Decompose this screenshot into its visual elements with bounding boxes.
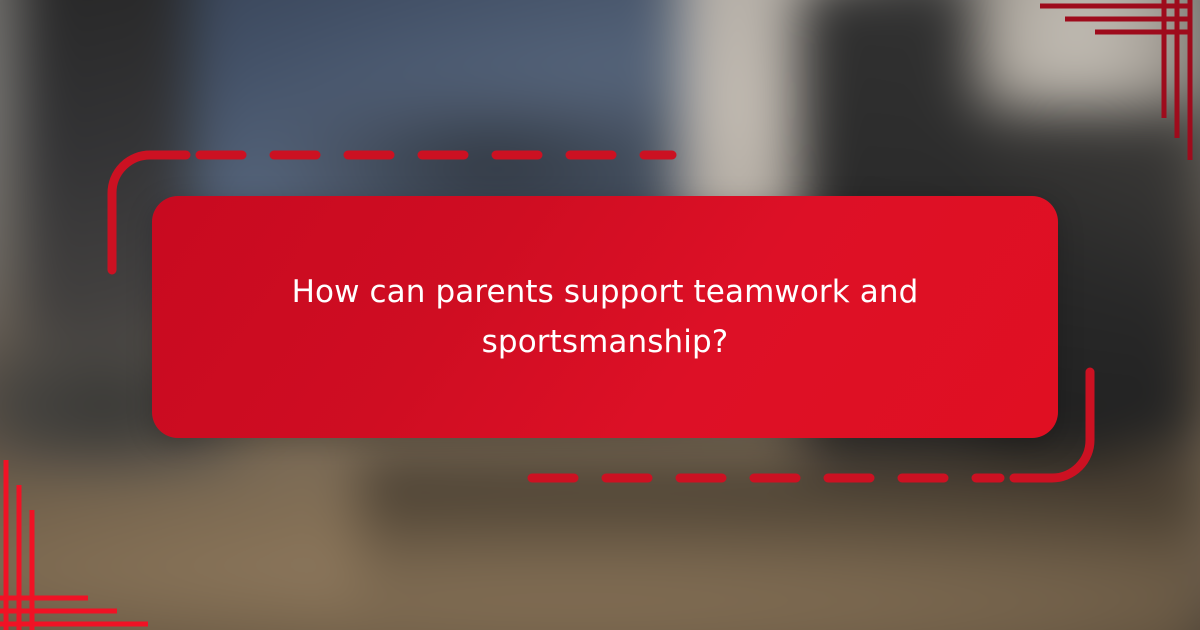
corner-lines-bottom-left-svg xyxy=(0,440,160,630)
question-text: How can parents support teamwork and spo… xyxy=(221,267,989,367)
corner-decoration-top-right xyxy=(1040,0,1200,160)
corner-lines-top-right-svg xyxy=(1040,0,1200,160)
corner-decoration-bottom-left xyxy=(0,440,160,630)
question-card: How can parents support teamwork and spo… xyxy=(152,196,1058,438)
social-card-canvas: How can parents support teamwork and spo… xyxy=(0,0,1200,630)
